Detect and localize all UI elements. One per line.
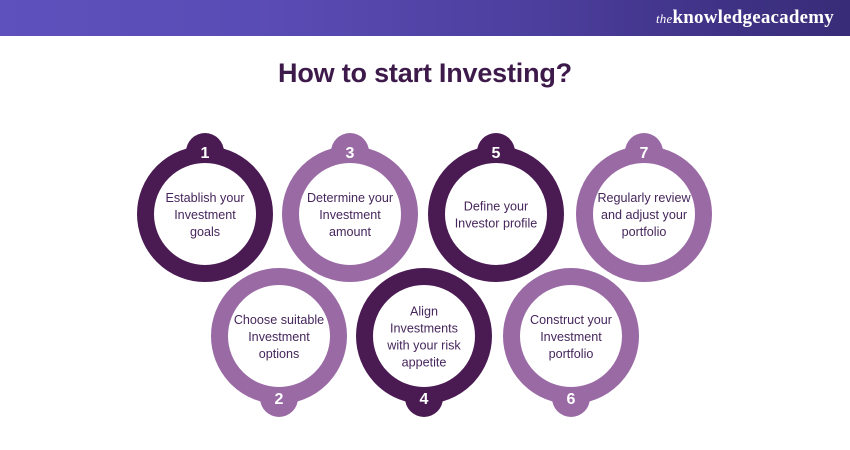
step-label-line: Investment — [174, 208, 236, 222]
step-number-4: 4 — [420, 391, 429, 408]
infographic-canvas: theknowledgeacademy How to start Investi… — [0, 0, 850, 450]
header-bar: theknowledgeacademy — [0, 0, 850, 36]
step-label-line: portfolio — [549, 347, 594, 361]
step-label-line: Construct your — [530, 313, 612, 327]
step-number-1: 1 — [201, 145, 210, 162]
step-label-line: amount — [329, 225, 372, 239]
step-number-2: 2 — [275, 391, 284, 408]
brand-logo: theknowledgeacademy — [656, 7, 834, 29]
step-label-line: Align — [410, 305, 438, 319]
step-label-line: Determine your — [307, 191, 393, 205]
process-step-1: 1Establish yourInvestmentgoals — [146, 133, 265, 274]
step-label-line: Regularly review — [597, 191, 691, 205]
step-label-line: portfolio — [622, 225, 667, 239]
step-number-6: 6 — [567, 391, 576, 408]
step-number-3: 3 — [346, 145, 355, 162]
brand-prefix: the — [656, 11, 672, 26]
step-label-line: appetite — [402, 356, 447, 370]
process-diagram-svg: 2Choose suitableInvestmentoptions6Constr… — [0, 110, 850, 450]
step-label-line: options — [259, 347, 300, 361]
step-label-line: Choose suitable — [234, 313, 324, 327]
step-label-line: Investments — [390, 322, 458, 336]
step-label-line: Establish your — [165, 191, 244, 205]
step-label-line: with your risk — [386, 339, 461, 353]
step-label-line: goals — [190, 225, 220, 239]
process-step-5: 5Define yourInvestor profile — [437, 133, 556, 274]
process-step-4: 4AlignInvestmentswith your riskappetite — [365, 277, 484, 418]
step-number-5: 5 — [492, 145, 501, 162]
step-label-line: Investment — [540, 330, 602, 344]
step-label-line: and adjust your — [601, 208, 687, 222]
process-step-3: 3Determine yourInvestmentamount — [291, 133, 410, 274]
step-label-line: Investment — [319, 208, 381, 222]
step-label-line: Investment — [248, 330, 310, 344]
process-step-6: 6Construct yourInvestmentportfolio — [512, 277, 631, 418]
step-label-line: Investor profile — [455, 217, 538, 231]
process-diagram: 2Choose suitableInvestmentoptions6Constr… — [0, 110, 850, 450]
page-title: How to start Investing? — [0, 58, 850, 89]
process-step-7: 7Regularly reviewand adjust yourportfoli… — [585, 133, 704, 274]
step-number-7: 7 — [640, 145, 649, 162]
brand-name: knowledgeacademy — [672, 7, 834, 28]
process-step-2: 2Choose suitableInvestmentoptions — [220, 277, 339, 418]
step-label-line: Define your — [464, 200, 528, 214]
